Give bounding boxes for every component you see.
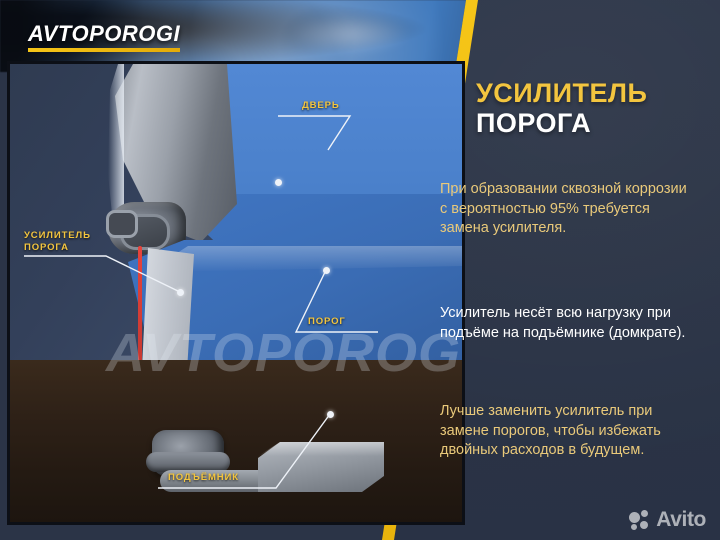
page-title: УСИЛИТЕЛЬ ПОРОГА: [476, 78, 714, 139]
label-reinforcement-line2: ПОРОГА: [24, 242, 69, 253]
callout-dot-door: [275, 179, 282, 186]
label-door: ДВЕРЬ: [302, 100, 340, 112]
label-reinforcement: УСИЛИТЕЛЬ ПОРОГА: [24, 230, 91, 254]
avito-badge: Avito: [629, 509, 706, 530]
door-seal-clip: [106, 210, 138, 238]
callout-dot-reinforcement: [177, 289, 184, 296]
lift-pad-highlight: [258, 442, 384, 456]
label-lift-text: ПОДЪЁМНИК: [168, 472, 239, 483]
label-sill-text: ПОРОГ: [308, 316, 346, 327]
label-lift: ПОДЪЁМНИК: [168, 472, 239, 484]
brand-logo[interactable]: AVTOPOROGI: [28, 22, 180, 52]
callout-dot-sill: [323, 267, 330, 274]
page-title-line1: УСИЛИТЕЛЬ: [476, 78, 714, 108]
page-title-line2: ПОРОГА: [476, 108, 714, 139]
jack-ring: [146, 452, 230, 472]
label-sill: ПОРОГ: [308, 316, 346, 328]
info-paragraph-2: Усилитель несёт всю нагрузку при подъёме…: [440, 304, 692, 343]
avito-label: Avito: [656, 509, 706, 530]
info-paragraph-1: При образовании сквозной коррозии с веро…: [440, 180, 692, 239]
info-paragraph-3: Лучше заменить усилитель при замене поро…: [440, 402, 692, 461]
label-door-text: ДВЕРЬ: [302, 100, 340, 111]
car-body-upper-strip: [225, 64, 462, 194]
cutaway-diagram: AVTOPOROGI ДВЕРЬ УСИЛИТЕЛЬ ПОРОГА ПОРОГ: [10, 64, 462, 522]
avito-dots-icon: [629, 510, 651, 530]
banner-light-blob: [290, 14, 410, 54]
label-reinforcement-line1: УСИЛИТЕЛЬ: [24, 230, 91, 241]
diagram-ground: [10, 360, 462, 522]
brand-logo-text: AVTOPOROGI: [28, 22, 180, 46]
brand-logo-underline: [28, 48, 180, 52]
callout-dot-lift: [327, 411, 334, 418]
poster-canvas: AVTOPOROGI ДВЕРЬ УСИЛИТЕЛЬ ПОРОГА ПОРОГ: [0, 0, 720, 540]
